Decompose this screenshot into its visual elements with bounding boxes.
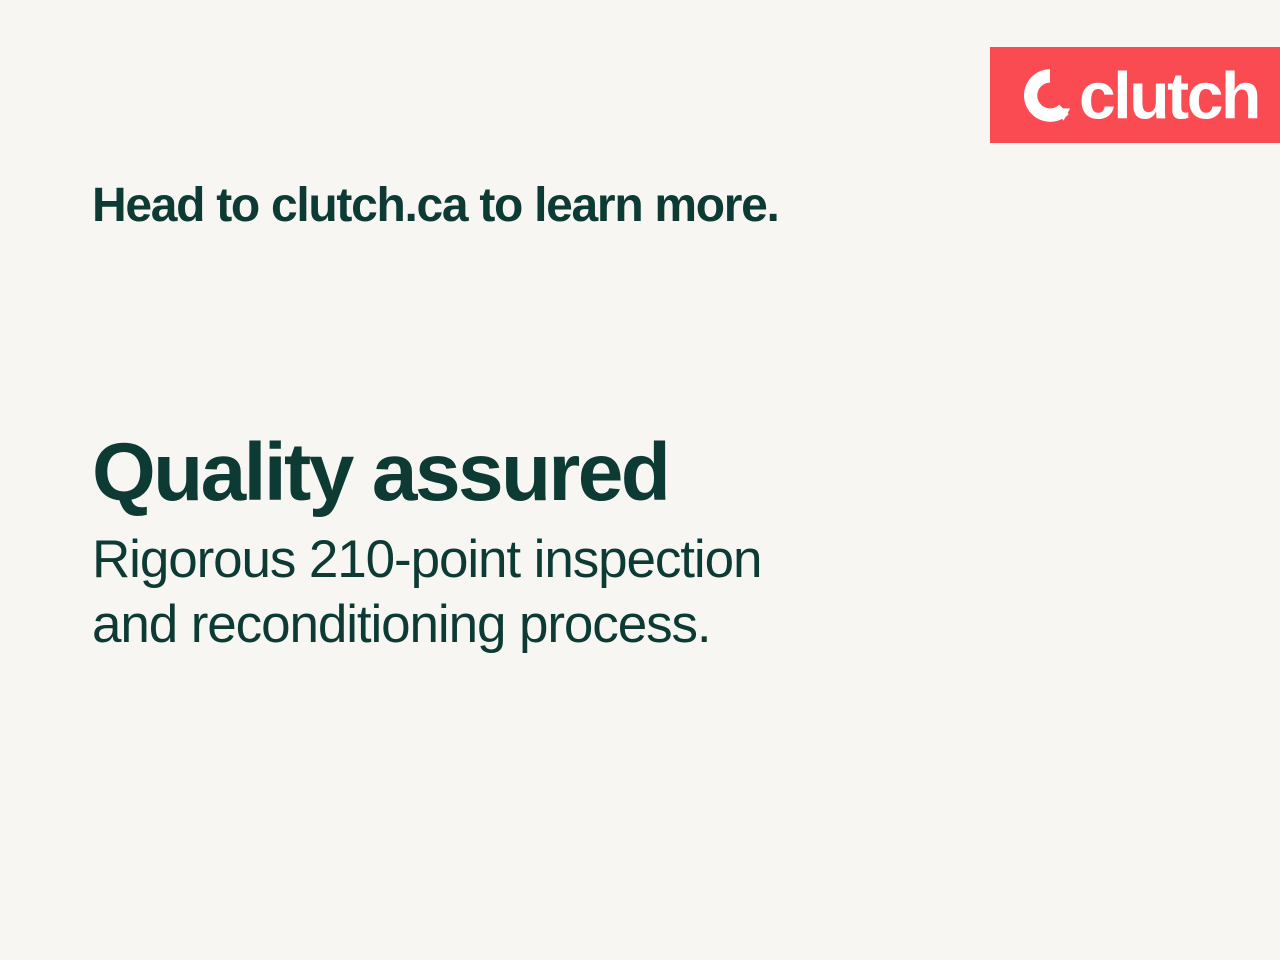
page-title: Quality assured: [92, 432, 1092, 514]
subcopy-line-1: Rigorous 210-point inspection: [92, 528, 952, 593]
clutch-wordmark: clutch: [1022, 62, 1259, 129]
clutch-logo-block[interactable]: clutch: [990, 47, 1280, 143]
clutch-c-mark-icon: [1022, 67, 1078, 123]
subcopy-line-2: and reconditioning process.: [92, 593, 952, 658]
kicker-text: Head to clutch.ca to learn more.: [92, 180, 779, 232]
clutch-logo-text: clutch: [1079, 63, 1259, 129]
subcopy: Rigorous 210-point inspection and recond…: [92, 528, 952, 657]
main-content: Quality assured Rigorous 210-point inspe…: [92, 432, 1092, 657]
slide-canvas: clutch Head to clutch.ca to learn more. …: [0, 0, 1280, 960]
